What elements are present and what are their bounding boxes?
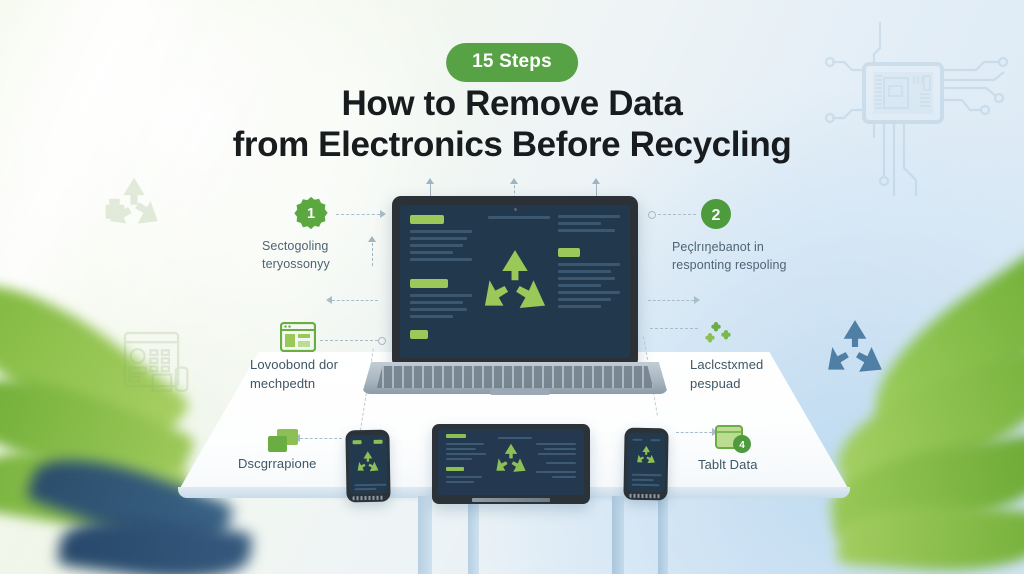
step-5-label: Dscgrrapione xyxy=(238,455,358,474)
screen-text-bar xyxy=(410,315,453,318)
svg-text:2: 2 xyxy=(712,207,721,224)
flow-arrow-up-head xyxy=(426,178,434,184)
flow-arrow-up-head xyxy=(592,178,600,184)
connector-dashed xyxy=(320,340,378,341)
browser-window-icon[interactable] xyxy=(280,322,316,352)
screen-text-bar xyxy=(488,216,550,219)
connector-dashed xyxy=(648,300,694,301)
screen-highlight-block xyxy=(410,330,428,339)
title-line-1: How to Remove Data xyxy=(342,84,683,123)
connector-dashed xyxy=(650,328,698,329)
screen-highlight-block xyxy=(558,248,580,257)
connector-arrowhead xyxy=(694,296,700,304)
connector-dashed xyxy=(332,300,378,301)
connector-dashed xyxy=(658,214,696,215)
screen-text-bar xyxy=(410,244,463,247)
laptop[interactable] xyxy=(392,196,638,368)
screen-text-bar xyxy=(558,284,601,287)
screen-text-bar xyxy=(410,301,463,304)
screen-text-bar xyxy=(558,215,620,218)
smartphone-left-screen xyxy=(348,435,387,495)
recycle-symbol-icon xyxy=(635,445,657,471)
svg-text:4: 4 xyxy=(739,440,745,451)
screen-highlight-block xyxy=(410,279,448,288)
smartphone-right-screen xyxy=(627,433,666,493)
step-1-label: Sectogoling teryossonyy xyxy=(262,237,392,273)
step-4-label: Laclcstxmed pespuad xyxy=(690,356,820,394)
numbered-circle-icon: 2 xyxy=(700,198,732,230)
title-line-2: from Electronics Before Recycling xyxy=(0,125,1024,166)
page-title: How to Remove Data from Electronics Befo… xyxy=(0,84,1024,166)
step-2-marker[interactable]: 2 xyxy=(700,198,732,235)
tablet-center-screen xyxy=(438,429,584,495)
step-6-label: Tablt Data xyxy=(698,456,818,475)
connector-arrowhead xyxy=(326,296,332,304)
laptop-lid xyxy=(392,196,638,368)
smartphone-left-speaker xyxy=(353,496,385,501)
square-with-badge-icon[interactable]: 4 xyxy=(714,424,758,456)
laptop-camera xyxy=(514,208,517,211)
screen-right-column xyxy=(558,215,620,312)
screen-text-bar xyxy=(558,277,615,280)
desk-leg xyxy=(658,496,668,574)
flow-arrow-up-head xyxy=(510,178,518,184)
step-3-label: Lovoobond dor mechpedtn xyxy=(250,356,380,394)
step-1-marker[interactable]: 1 xyxy=(294,196,328,235)
stacked-squares-icon[interactable] xyxy=(266,428,302,456)
screen-text-bar xyxy=(558,222,601,225)
connector-node xyxy=(378,337,386,345)
screen-text-bar xyxy=(410,237,467,240)
desk-leg xyxy=(418,496,432,574)
screen-text-bar xyxy=(558,291,620,294)
smartphone-right-speaker xyxy=(629,494,661,499)
smartphone-left[interactable] xyxy=(345,430,390,503)
recycle-watermark-left-icon xyxy=(96,168,172,246)
tablet-center-home-bar xyxy=(472,498,550,502)
screen-text-bar xyxy=(558,229,615,232)
recycle-symbol-icon xyxy=(355,450,382,479)
connector-dashed xyxy=(300,438,342,439)
desk-leg xyxy=(612,496,624,574)
laptop-keyboard[interactable] xyxy=(374,366,656,388)
infographic-canvas: 15 Steps How to Remove Data from Electro… xyxy=(0,0,1024,574)
connector-node xyxy=(648,211,656,219)
smartphone-right[interactable] xyxy=(623,428,668,501)
screen-text-bar xyxy=(558,305,601,308)
device-watermark-left-icon xyxy=(118,326,192,400)
screen-text-bar xyxy=(410,294,472,297)
screen-text-bar xyxy=(410,258,472,261)
step-2-label: Peçlrıŋebanot in responting respoling xyxy=(672,238,822,274)
tablet-center[interactable] xyxy=(432,424,590,504)
screen-left-column xyxy=(410,215,472,345)
connector-dashed xyxy=(336,214,380,215)
screen-text-bar xyxy=(558,298,611,301)
laptop-screen xyxy=(400,205,630,358)
screen-text-bar xyxy=(410,308,467,311)
screen-text-bar xyxy=(410,230,472,233)
recycle-symbol-icon xyxy=(478,247,552,322)
screen-text-bar xyxy=(558,263,620,266)
puzzle-icon[interactable] xyxy=(704,320,744,352)
screen-highlight-block xyxy=(410,215,444,224)
recycle-symbol-icon xyxy=(493,443,529,482)
recycle-symbol-right-icon xyxy=(822,318,888,380)
svg-text:1: 1 xyxy=(307,206,315,222)
steps-badge: 15 Steps xyxy=(446,43,578,82)
laptop-trackpad[interactable] xyxy=(490,389,550,395)
scalloped-badge-icon: 1 xyxy=(294,196,328,230)
screen-text-bar xyxy=(558,270,611,273)
connector-arrowhead xyxy=(380,210,386,218)
screen-text-bar xyxy=(410,251,453,254)
connector-dashed xyxy=(676,432,712,433)
desk-leg xyxy=(468,496,479,574)
